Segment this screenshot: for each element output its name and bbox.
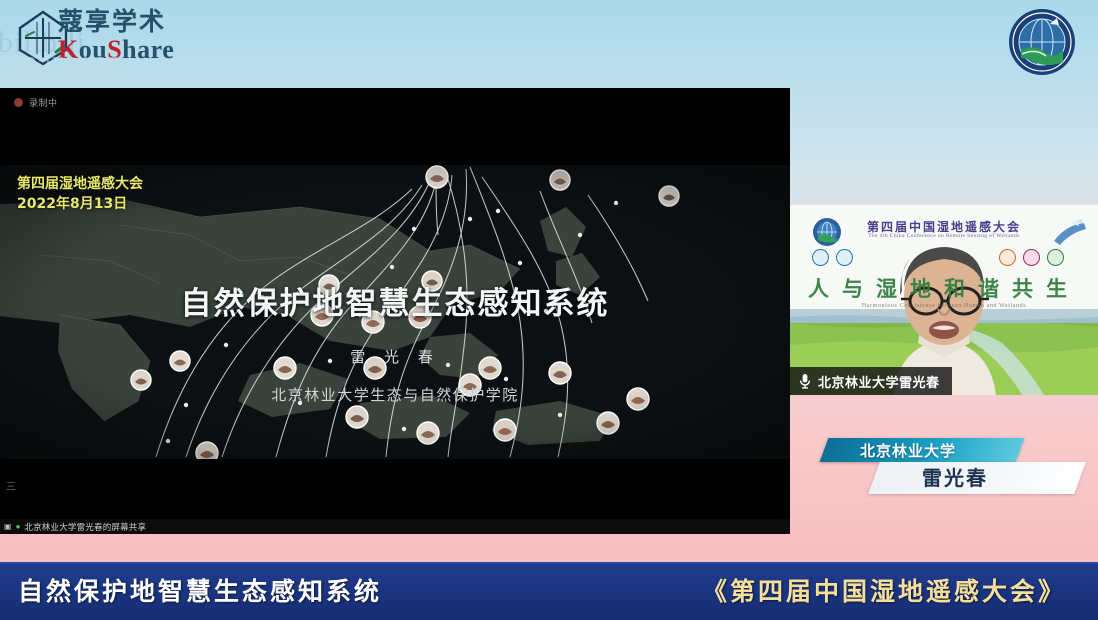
mic-icon: ● bbox=[16, 523, 21, 531]
slide-menu-glyph[interactable]: 三 bbox=[6, 478, 16, 493]
share-footer-bar: ▣ ● 北京林业大学雷光春的屏幕共享 bbox=[0, 519, 790, 534]
lower-third-name: 雷光春 bbox=[922, 463, 1098, 493]
org-badge-icon bbox=[999, 249, 1016, 266]
screen-icon: ▣ bbox=[4, 523, 12, 531]
slide-tag-line1: 第四届湿地遥感大会 bbox=[17, 174, 143, 194]
slide-author: 雷 光 春 bbox=[0, 346, 790, 367]
bottom-title-bar: 自然保护地智慧生态感知系统 《第四届中国湿地遥感大会》 bbox=[0, 562, 1098, 620]
watermark-number: 22272155 bbox=[10, 52, 120, 79]
participant-video-tile[interactable]: 第四届中国湿地遥感大会 The 4th China Conference on … bbox=[790, 205, 1098, 395]
bottom-bar-conference-title: 《第四届中国湿地遥感大会》 bbox=[702, 572, 1066, 608]
participant-nametag: 北京林业大学雷光春 bbox=[790, 367, 952, 395]
slide-tag-line2: 2022年8月13日 bbox=[17, 194, 143, 214]
lower-third-affiliation: 北京林业大学 bbox=[860, 440, 1040, 462]
mic-icon bbox=[798, 373, 812, 389]
conference-emblem-icon bbox=[1004, 2, 1080, 82]
org-badge-icon bbox=[1047, 249, 1064, 266]
recording-indicator: 录制中 bbox=[14, 96, 58, 109]
koushare-chinese-name: 蔻享学术 bbox=[58, 8, 174, 36]
top-branding-bar: bilibili 蔻享学术 KouShare 22272155 bbox=[0, 0, 1098, 88]
slide-title: 自然保护地智慧生态感知系统 bbox=[0, 278, 790, 323]
bottom-bar-talk-title: 自然保护地智慧生态感知系统 bbox=[18, 572, 382, 608]
video-bg-slogan-cn: 人与湿地和谐共生 bbox=[790, 273, 1098, 303]
org-badge-icon bbox=[836, 249, 853, 266]
bottom-bar-rule bbox=[0, 562, 1098, 564]
org-badge-icon bbox=[812, 249, 829, 266]
video-bg-title-en: The 4th China Conference on Remote Sensi… bbox=[790, 233, 1098, 239]
video-bg-slogan-en: Harmonious Coexistence between Human and… bbox=[790, 303, 1098, 309]
video-bg-org-badges-right bbox=[999, 249, 1064, 266]
video-bg-org-badges-left bbox=[812, 249, 853, 266]
recording-dot-icon bbox=[14, 98, 23, 107]
participant-name-label: 北京林业大学雷光春 bbox=[818, 372, 940, 391]
slide-conference-tag: 第四届湿地遥感大会 2022年8月13日 bbox=[17, 174, 143, 214]
conference-livestream-screen: bilibili 蔻享学术 KouShare 22272155 bbox=[0, 0, 1098, 620]
screen-share-panel[interactable]: 录制中 bbox=[0, 88, 790, 534]
recording-label: 录制中 bbox=[29, 96, 58, 109]
org-badge-icon bbox=[1023, 249, 1040, 266]
slide-affiliation: 北京林业大学生态与自然保护学院 bbox=[0, 384, 790, 405]
share-owner-label: 北京林业大学雷光春的屏幕共享 bbox=[24, 521, 146, 533]
lower-third-banner: 北京林业大学 雷光春 bbox=[818, 438, 1080, 496]
koushare-hare: hare bbox=[122, 35, 174, 64]
presentation-slide: 第四届湿地遥感大会 2022年8月13日 自然保护地智慧生态感知系统 雷 光 春… bbox=[0, 165, 790, 459]
